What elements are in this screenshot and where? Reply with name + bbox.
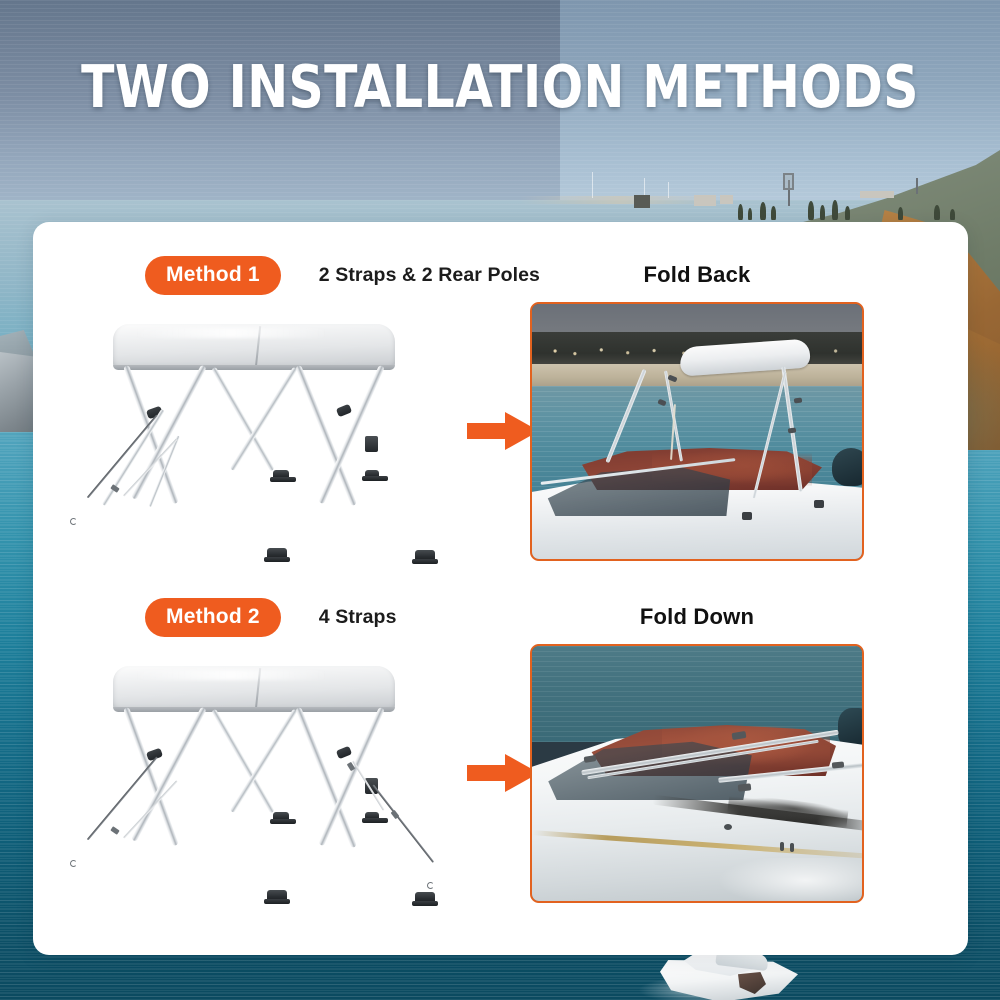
strap-hook-4 xyxy=(427,882,434,889)
bimini-diagram-method-2 xyxy=(61,660,453,918)
frame-hinge-plate xyxy=(365,436,378,452)
arrow-right-icon-1 xyxy=(467,412,539,450)
cypress-tree xyxy=(820,205,825,220)
strap-buckle-1 xyxy=(110,826,119,835)
deck-mount-mid xyxy=(273,470,289,479)
frame-knuckle-rear-left xyxy=(336,746,352,760)
ridge-building xyxy=(860,191,894,198)
cypress-tree xyxy=(771,206,776,220)
ridge-building xyxy=(720,195,733,204)
method-1-subtitle: 2 Straps & 2 Rear Poles xyxy=(319,264,540,287)
method-block-2: Method 2 4 Straps Fold Down xyxy=(33,564,968,955)
cypress-tree xyxy=(950,209,955,220)
photo2-hull-port xyxy=(724,824,732,830)
ridge-skyline xyxy=(598,150,1000,220)
photo1-outboard xyxy=(832,448,864,486)
cypress-tree xyxy=(934,205,940,220)
canopy-trim xyxy=(113,365,395,370)
arrow-shaft xyxy=(467,423,509,439)
content-card: Method 1 2 Straps & 2 Rear Poles Fold Ba… xyxy=(33,222,968,955)
deck-mount-rear xyxy=(415,550,435,561)
support-strap-3 xyxy=(352,760,384,810)
photo2-fitting-2 xyxy=(738,783,752,791)
deck-mount-front xyxy=(267,548,287,559)
cypress-tree xyxy=(845,206,850,220)
strap-hook-1 xyxy=(70,860,77,867)
photo-fold-down xyxy=(530,644,864,903)
distant-mast xyxy=(592,172,593,198)
photo1-deck-mount-right xyxy=(814,500,824,508)
ridge-building xyxy=(694,195,716,206)
photo-fold-back xyxy=(530,302,864,561)
bimini-diagram-method-1 xyxy=(61,318,453,576)
cypress-tree xyxy=(760,202,766,220)
method-1-header: Method 1 2 Straps & 2 Rear Poles xyxy=(145,256,540,295)
deck-mount-rear xyxy=(415,892,435,903)
photo2-fitting-3 xyxy=(832,761,845,768)
method-2-subtitle: 4 Straps xyxy=(319,606,397,629)
cypress-tree xyxy=(898,207,903,220)
arrow-shaft xyxy=(467,765,509,781)
canopy-highlight xyxy=(131,670,331,680)
support-strap-4 xyxy=(372,784,434,862)
antenna-mast xyxy=(916,178,918,194)
cypress-tree xyxy=(808,201,814,220)
fold-down-title: Fold Down xyxy=(527,604,867,630)
cypress-tree xyxy=(748,208,752,220)
page-title: TWO INSTALLATION METHODS xyxy=(40,56,960,118)
method-1-badge: Method 1 xyxy=(145,256,281,295)
method-2-badge: Method 2 xyxy=(145,598,281,637)
deck-mount-mid xyxy=(273,812,289,821)
method-2-header: Method 2 4 Straps xyxy=(145,598,397,637)
photo2-wake xyxy=(712,858,864,903)
photo1-deck-mount-left xyxy=(742,512,752,520)
ridge-building xyxy=(634,195,650,208)
strap-hook-1 xyxy=(70,518,77,525)
deck-mount-mid-rear xyxy=(365,812,379,820)
arrow-right-icon-2 xyxy=(467,754,539,792)
support-strap-1 xyxy=(87,756,158,840)
tower-platform xyxy=(783,173,794,190)
photo2-hull-vent xyxy=(790,843,794,852)
canopy-highlight xyxy=(131,328,331,338)
cypress-tree xyxy=(832,200,838,220)
deck-mount-mid-rear xyxy=(365,470,379,478)
fold-back-title: Fold Back xyxy=(527,262,867,288)
photo2-hull-vent xyxy=(780,842,784,851)
support-strap-1 xyxy=(87,414,158,498)
frame-knuckle-rear-left xyxy=(336,404,352,418)
canopy-trim xyxy=(113,707,395,712)
cypress-tree xyxy=(738,204,743,220)
deck-mount-front xyxy=(267,890,287,901)
method-block-1: Method 1 2 Straps & 2 Rear Poles Fold Ba… xyxy=(33,222,968,588)
